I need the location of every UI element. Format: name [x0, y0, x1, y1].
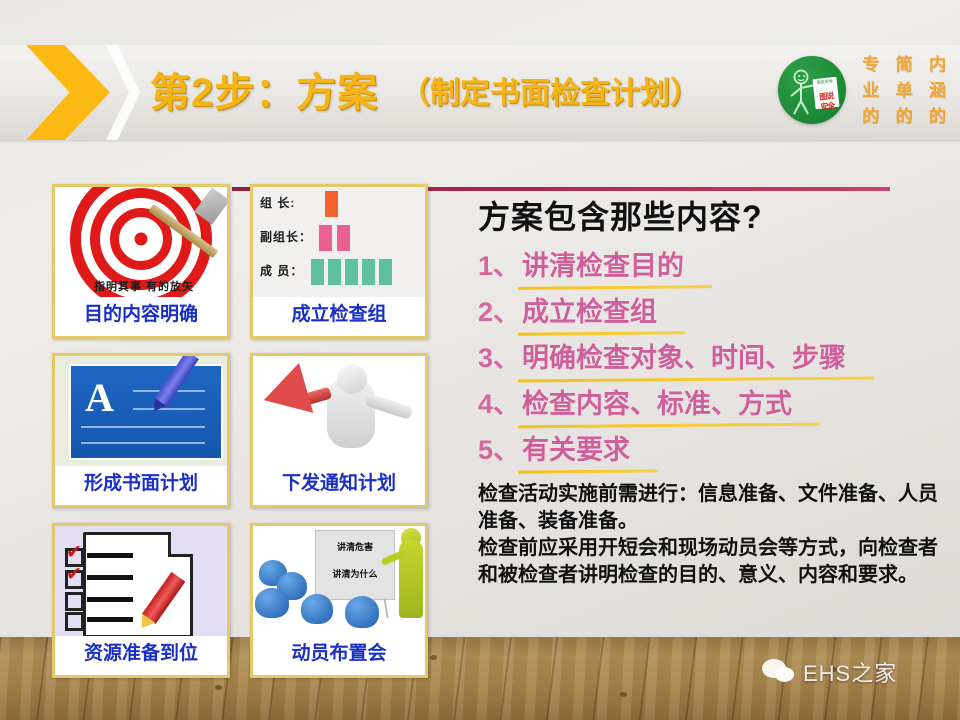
grid-cell-caption: 形成书面计划	[55, 463, 227, 505]
watermark: EHS之家	[762, 656, 897, 688]
brand-word: 业	[854, 78, 887, 104]
whiteboard-line-2: 讲清为什么	[316, 567, 394, 580]
list-item-text: 有关要求	[522, 428, 630, 471]
grid-cell-caption: 下发通知计划	[253, 463, 425, 505]
list-item-index: 5、	[478, 428, 522, 467]
list-item-text: 成立检查组	[522, 290, 657, 333]
whiteboard-line-1: 讲清危害	[316, 540, 394, 553]
content-list: 1、 讲清检查目的 2、 成立检查组 3、 明确检查对象、时间、步骤 4、 检查…	[478, 244, 946, 471]
slide-root: 第2步：方案 （制定书面检查计划） 图说安全 图说 安全 专 简 内	[0, 0, 960, 720]
list-item: 5、 有关要求	[478, 428, 946, 471]
brand-tagline: 专 简 内 业 单 涵 的 的 的	[854, 52, 954, 130]
content-paragraphs: 检查活动实施前需进行：信息准备、文件准备、人员准备、装备准备。 检查前应采用开短…	[478, 481, 946, 589]
illustration-grid: 指明其事 有的放矢 目的内容明确 组 长: 副组长： 成 员：	[52, 184, 428, 678]
blue-document-pencil-icon: A	[55, 356, 227, 466]
brand-word: 的	[854, 104, 887, 130]
watermark-text: EHS之家	[803, 656, 897, 688]
grid-cell-notice[interactable]: 下发通知计划	[250, 353, 428, 508]
org-row-label: 副组长：	[260, 228, 312, 245]
list-item-index: 1、	[478, 244, 522, 283]
list-item-index: 2、	[478, 290, 522, 329]
org-row-label: 组 长:	[260, 194, 295, 211]
grid-cell-caption: 目的内容明确	[55, 294, 227, 336]
wechat-icon	[762, 659, 796, 685]
grid-cell-caption: 动员布置会	[253, 633, 425, 675]
sign-board-icon: 图说安全 图说 安全	[812, 77, 839, 109]
sign-caption: 图说安全	[813, 78, 837, 85]
target-bullseye-arrow-icon: 指明其事 有的放矢	[55, 187, 227, 297]
whiteboard: 讲清危害 讲清为什么	[315, 530, 395, 600]
brand-word: 单	[887, 78, 920, 104]
list-item: 1、 讲清检查目的	[478, 244, 946, 287]
list-item-text: 讲清检查目的	[522, 244, 684, 287]
checklist-red-pencil-icon: ✔ ✔	[55, 526, 227, 636]
grid-cell-target[interactable]: 指明其事 有的放矢 目的内容明确	[52, 184, 230, 339]
brand-word: 的	[887, 104, 920, 130]
list-item-text: 明确检查对象、时间、步骤	[522, 336, 846, 379]
org-row-label: 成 员：	[260, 262, 303, 279]
content-question: 方案包含那些内容?	[478, 192, 946, 238]
page-title: 第2步：方案	[150, 60, 378, 126]
check-mark-icon: ✔	[66, 545, 81, 560]
page-subtitle: （制定书面检查计划）	[400, 66, 700, 122]
document-letter: A	[85, 378, 114, 418]
org-chart-people-icon: 组 长: 副组长： 成 员：	[253, 187, 425, 297]
list-item-index: 4、	[478, 382, 522, 421]
megaphone-person-icon	[253, 356, 425, 466]
brand-word: 专	[854, 52, 887, 78]
list-item: 2、 成立检查组	[478, 290, 946, 333]
grid-cell-mobilization[interactable]: 讲清危害 讲清为什么 动员布置会	[250, 523, 428, 678]
content-panel: 方案包含那些内容? 1、 讲清检查目的 2、 成立检查组 3、 明确检查对象、时…	[478, 192, 946, 589]
paragraph-1: 检查活动实施前需进行：信息准备、文件准备、人员准备、装备准备。	[478, 481, 946, 535]
grid-cell-caption: 成立检查组	[253, 294, 425, 336]
brand-word: 涵	[921, 78, 954, 104]
grid-cell-written-plan[interactable]: A 形成书面计划	[52, 353, 230, 508]
paragraph-2: 检查前应采用开短会和现场动员会等方式，向检查者和被检查者讲明检查的目的、意义、内…	[478, 535, 946, 589]
meeting-whiteboard-icon: 讲清危害 讲清为什么	[253, 526, 425, 636]
list-item-text: 检查内容、标准、方式	[522, 382, 792, 425]
list-item: 4、 检查内容、标准、方式	[478, 382, 946, 425]
grid-cell-resources[interactable]: ✔ ✔ 资源准备到位	[52, 523, 230, 678]
list-item-index: 3、	[478, 336, 522, 375]
target-overlay-text: 指明其事 有的放矢	[59, 278, 227, 294]
list-item: 3、 明确检查对象、时间、步骤	[478, 336, 946, 379]
brand-word: 的	[921, 104, 954, 130]
green-circle-safety-logo: 图说安全 图说 安全	[778, 56, 846, 124]
brand-logo: 图说安全 图说 安全 专 简 内 业 单 涵 的 的 的	[778, 52, 954, 130]
grid-cell-caption: 资源准备到位	[55, 633, 227, 675]
brand-word: 内	[921, 52, 954, 78]
check-mark-icon: ✔	[66, 567, 81, 582]
brand-word: 简	[887, 52, 920, 78]
grid-cell-inspection-team[interactable]: 组 长: 副组长： 成 员： 成立检查组	[250, 184, 428, 339]
